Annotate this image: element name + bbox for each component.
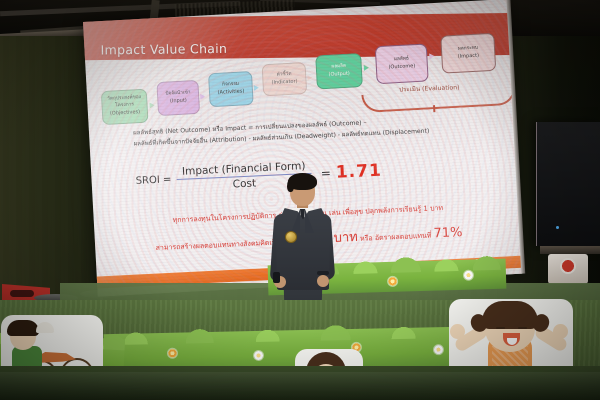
presenter-hand-right [317,275,329,287]
lapel-emblem-icon [285,231,297,243]
red-chair-handle [10,290,34,297]
chain-arrow-icon [254,85,259,91]
evaluation-brace-tip [433,105,435,112]
slide-title: Impact Value Chain [101,41,228,58]
boy-hair [7,320,39,336]
chain-arrow-icon [364,65,369,71]
presenter-clicker [273,272,280,283]
highlight-percent: 71% [433,225,463,241]
loudspeaker-cabinet [536,122,600,246]
chain-arrow-icon [307,75,312,81]
chain-node-input: ปัจจัยนำเข้า (Input) [156,80,200,116]
chain-node-impact: ผลกระทบ (Impact) [440,33,496,74]
equipment-shelf [540,246,600,254]
girl-hand-right [553,324,568,339]
chain-node-indicator: ตัวชี้วัด (Indicator) [262,62,308,96]
wristwatch-icon [317,271,329,275]
girl-hair [482,301,538,329]
chain-arrow-icon [429,53,434,59]
chain-node-outcome: ผลลัพธ์ (Outcome) [375,43,429,84]
formula-lhs: SROI = [135,174,171,187]
formula-denominator: Cost [226,176,262,191]
highlight-line2-mid: หรือ อัตราผลตอบแทนที่ [358,231,434,242]
shelf-item-logo [560,258,576,274]
chain-node-activities: กิจกรรม (Activities) [208,71,254,107]
girl-hand-left [450,324,465,339]
presenter-hair-side [287,178,294,192]
chain-node-output: ผลผลิต (Output) [315,53,363,89]
flower-icon [388,277,397,286]
flower-icon [168,349,177,358]
flower-icon [254,351,263,360]
boy-cap [36,322,54,333]
chain-arrow-icon [149,102,154,108]
flower-icon [434,345,443,354]
chain-node-objectives: วัตถุประสงค์ของโครงการ (Objectives) [101,89,149,125]
speaker-led-icon [556,226,559,229]
floor-reflection [0,372,600,400]
photo-scene: Impact Value Chain วัตถุประสงค์ของโครงกา… [0,0,600,400]
evaluation-brace [361,87,516,113]
chain-arrow-icon [200,94,205,100]
flower-icon [464,271,473,280]
